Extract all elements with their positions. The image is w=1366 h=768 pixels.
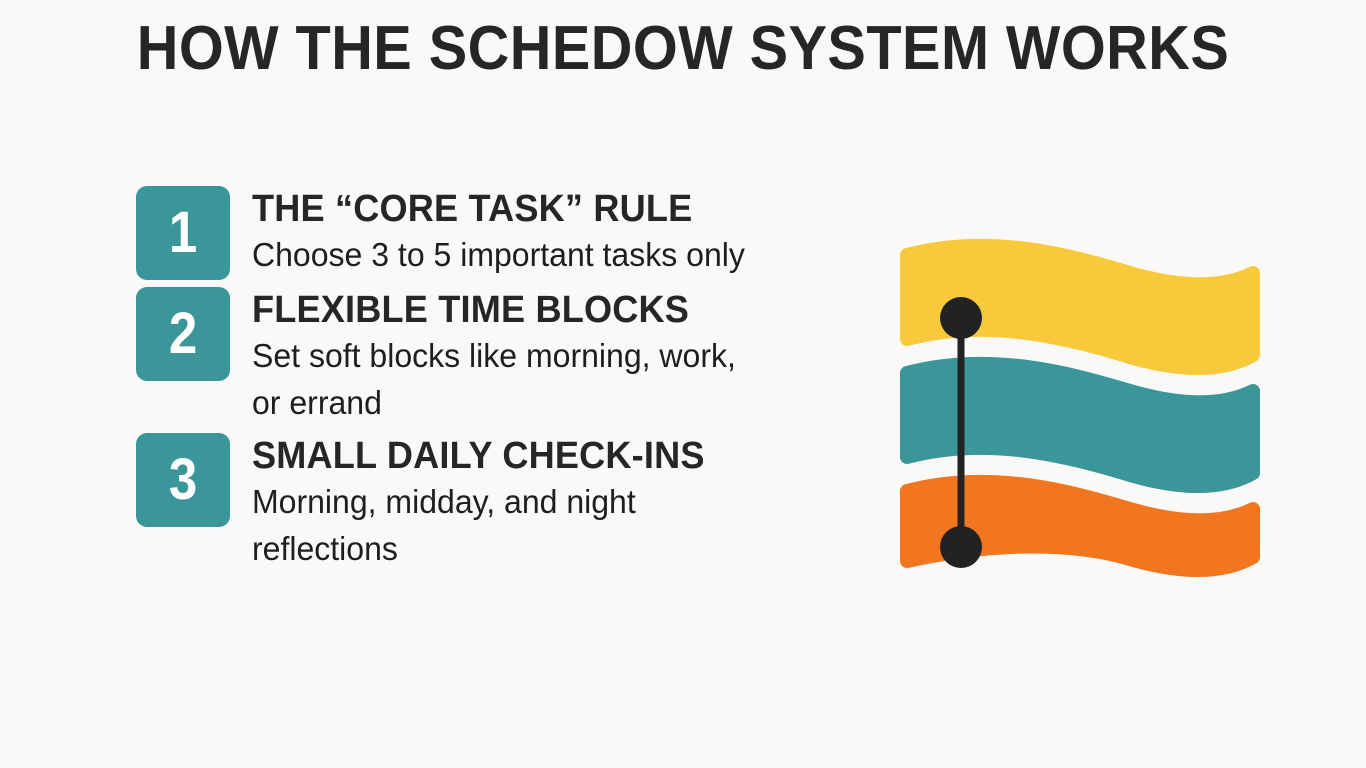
steps-list: 1 THE “CORE TASK” RULE Choose 3 to 5 imp… <box>136 186 836 579</box>
connector-dot-top <box>940 297 982 339</box>
step-badge-1: 1 <box>136 186 230 280</box>
step-heading: FLEXIBLE TIME BLOCKS <box>252 289 746 332</box>
page-title: HOW THE SCHEDOW SYSTEM WORKS <box>48 14 1318 84</box>
step-badge-2: 2 <box>136 287 230 381</box>
list-item: 1 THE “CORE TASK” RULE Choose 3 to 5 imp… <box>136 186 836 280</box>
list-item: 2 FLEXIBLE TIME BLOCKS Set soft blocks l… <box>136 287 836 426</box>
step-text-block: SMALL DAILY CHECK-INS Morning, midday, a… <box>252 433 772 572</box>
list-item: 3 SMALL DAILY CHECK-INS Morning, midday,… <box>136 433 836 572</box>
step-number: 2 <box>169 305 197 363</box>
step-body: Morning, midday, and night reflections <box>252 478 756 572</box>
step-body: Set soft blocks like morning, work, or e… <box>252 332 756 426</box>
step-number: 3 <box>169 451 197 509</box>
step-number: 1 <box>169 204 197 262</box>
step-text-block: THE “CORE TASK” RULE Choose 3 to 5 impor… <box>252 186 760 278</box>
step-heading: SMALL DAILY CHECK-INS <box>252 435 746 478</box>
slide-canvas: HOW THE SCHEDOW SYSTEM WORKS 1 THE “CORE… <box>0 0 1366 768</box>
wavy-ribbons-illustration <box>880 225 1280 595</box>
step-body: Choose 3 to 5 important tasks only <box>252 231 745 278</box>
step-heading: THE “CORE TASK” RULE <box>252 188 735 231</box>
step-badge-3: 3 <box>136 433 230 527</box>
step-text-block: FLEXIBLE TIME BLOCKS Set soft blocks lik… <box>252 287 772 426</box>
connector-dot-bottom <box>940 526 982 568</box>
